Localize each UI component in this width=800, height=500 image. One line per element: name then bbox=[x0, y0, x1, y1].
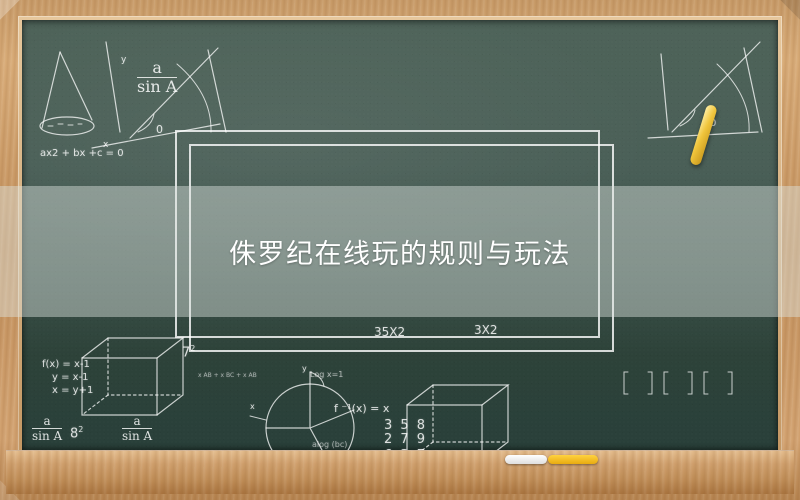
fraction-a-over-sinA-bottomcenter: a sin A bbox=[122, 415, 152, 442]
quadratic-equation: ax2 + bx +c = 0 bbox=[40, 148, 124, 159]
fraction-a-over-sinA-topleft: a sin A bbox=[137, 60, 177, 96]
white-chalk-stick[interactable] bbox=[505, 455, 547, 464]
yellow-chalk-stick[interactable] bbox=[548, 455, 598, 464]
arithmetic-row-2: 2 7 9 bbox=[384, 432, 427, 447]
function-line-3: x = y+1 bbox=[52, 385, 93, 396]
power-8-exponent: 2 bbox=[78, 425, 83, 434]
fraction-a-over-sinA-bottomleft: a sin A bbox=[32, 415, 62, 442]
axis-label-x-right: x bbox=[250, 402, 255, 411]
function-line-1: f(x) = x-1 bbox=[42, 359, 90, 370]
log-small-label: alog (bc) bbox=[312, 440, 347, 449]
chalk-ledge bbox=[6, 450, 794, 494]
log-label: Log x=1 bbox=[310, 370, 343, 379]
function-line-2: y = x-1 bbox=[52, 372, 89, 383]
arithmetic-row-1: 3 5 8 bbox=[384, 418, 427, 433]
title-band: 侏罗纪在线玩的规则与玩法 bbox=[0, 186, 800, 317]
inverse-function-label: f ⁻¹(x) = x bbox=[334, 402, 389, 415]
angle-label-topleft: 0 bbox=[156, 123, 163, 136]
matrix-brackets bbox=[624, 372, 732, 394]
small-equation-center: x AB + x BC + x AB bbox=[198, 372, 257, 379]
cone-drawing bbox=[40, 52, 94, 135]
axis-label-y-topleft: y bbox=[121, 55, 126, 65]
cube-wireframe-left bbox=[82, 338, 183, 415]
wooden-board-frame: a sin A y x 0 ax2 + bx +c = 0 f(x) = x-1… bbox=[0, 0, 800, 500]
page-title: 侏罗纪在线玩的规则与玩法 bbox=[229, 232, 571, 271]
axis-label-y-right: y bbox=[302, 364, 307, 373]
power-8: 82 bbox=[70, 425, 83, 441]
